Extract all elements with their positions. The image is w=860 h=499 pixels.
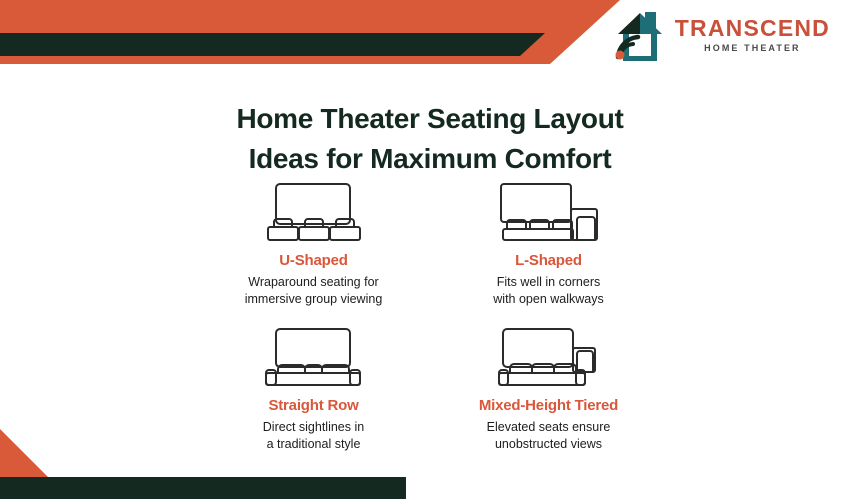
page-title-line-2: Ideas for Maximum Comfort [0,139,860,180]
mixed-height-tiered-seating-icon [489,326,609,388]
logo-tagline: HOME THEATER [704,44,801,53]
seating-card-title: Straight Row [268,397,358,414]
seating-card-description: Fits well in corners with open walkways [493,274,603,307]
u-shaped-seating-icon [254,181,374,243]
logo-wordmark: TRANSCEND HOME THEATER [675,17,830,53]
infographic-canvas: TRANSCEND HOME THEATER Home Theater Seat… [0,0,860,499]
seating-card-title: L-Shaped [515,252,582,269]
description-line-2: unobstructed views [495,437,602,451]
brand-logo: TRANSCEND HOME THEATER [612,9,830,61]
seating-card-description: Elevated seats ensure unobstructed views [487,419,611,452]
description-line-2: immersive group viewing [245,292,383,306]
seating-card-mixed-height-tiered: Mixed-Height Tiered Elevated seats ensur… [431,326,666,452]
logo-brand-name: TRANSCEND [675,17,830,40]
page-title: Home Theater Seating Layout Ideas for Ma… [0,99,860,180]
seating-card-straight-row: Straight Row Direct sightlines in a trad… [196,326,431,452]
description-line-1: Direct sightlines in [263,420,364,434]
house-wifi-icon [612,9,668,61]
seating-card-l-shaped: L-Shaped Fits well in corners with open … [431,181,666,307]
seating-card-title: U-Shaped [279,252,347,269]
top-green-banner-shape [0,33,545,56]
bottom-green-bar-shape [0,477,406,499]
seating-card-u-shaped: U-Shaped Wraparound seating for immersiv… [196,181,431,307]
seating-card-description: Wraparound seating for immersive group v… [245,274,383,307]
description-line-1: Fits well in corners [497,275,601,289]
page-title-line-1: Home Theater Seating Layout [0,99,860,140]
seating-layout-grid: U-Shaped Wraparound seating for immersiv… [196,181,666,452]
description-line-1: Elevated seats ensure [487,420,611,434]
l-shaped-seating-icon [489,181,609,243]
seating-card-title: Mixed-Height Tiered [479,397,618,414]
seating-card-description: Direct sightlines in a traditional style [263,419,364,452]
straight-row-seating-icon [254,326,374,388]
description-line-1: Wraparound seating for [248,275,378,289]
description-line-2: a traditional style [267,437,361,451]
description-line-2: with open walkways [493,292,603,306]
bottom-orange-triangle-shape [0,429,48,477]
